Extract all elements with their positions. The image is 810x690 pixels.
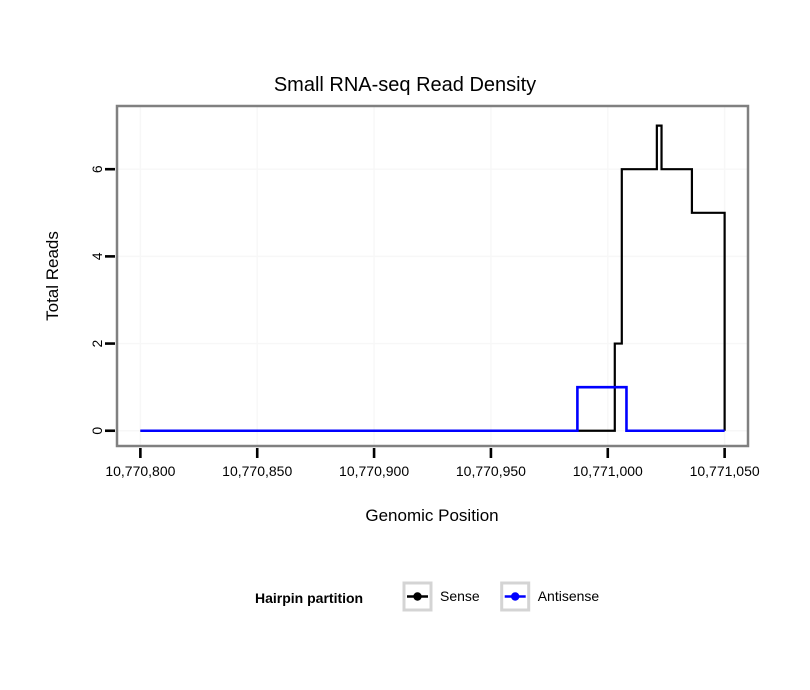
x-tick-label: 10,771,000 [573, 463, 643, 479]
legend-key-point [511, 592, 519, 600]
y-tick-label: 0 [89, 427, 105, 435]
legend: Hairpin partition SenseAntisense [255, 583, 599, 610]
legend-entry-label: Antisense [538, 588, 600, 604]
y-axis-tick-labels: 0246 [89, 165, 105, 435]
legend-entry-antisense[interactable]: Antisense [502, 583, 600, 610]
x-tick-label: 10,770,900 [339, 463, 409, 479]
legend-entries: SenseAntisense [404, 583, 599, 610]
x-axis-title: Genomic Position [365, 506, 498, 525]
x-axis-tick-labels: 10,770,80010,770,85010,770,90010,770,950… [105, 463, 760, 479]
y-tick-label: 2 [89, 339, 105, 347]
y-tick-label: 4 [89, 252, 105, 260]
chart-title: Small RNA-seq Read Density [274, 74, 536, 96]
plot-panel-background [117, 106, 748, 446]
y-tick-label: 6 [89, 165, 105, 173]
x-tick-label: 10,770,850 [222, 463, 292, 479]
legend-entry-sense[interactable]: Sense [404, 583, 480, 610]
x-tick-label: 10,771,050 [690, 463, 760, 479]
y-axis-title: Total Reads [43, 231, 62, 321]
legend-title: Hairpin partition [255, 590, 363, 606]
x-axis-ticks [140, 448, 724, 458]
legend-entry-label: Sense [440, 588, 480, 604]
y-axis-ticks [105, 169, 115, 431]
x-tick-label: 10,770,950 [456, 463, 526, 479]
chart-container: Small RNA-seq Read Density 10,770,80010,… [0, 0, 810, 690]
x-tick-label: 10,770,800 [105, 463, 175, 479]
legend-key-point [413, 592, 421, 600]
read-density-chart: Small RNA-seq Read Density 10,770,80010,… [0, 0, 810, 690]
